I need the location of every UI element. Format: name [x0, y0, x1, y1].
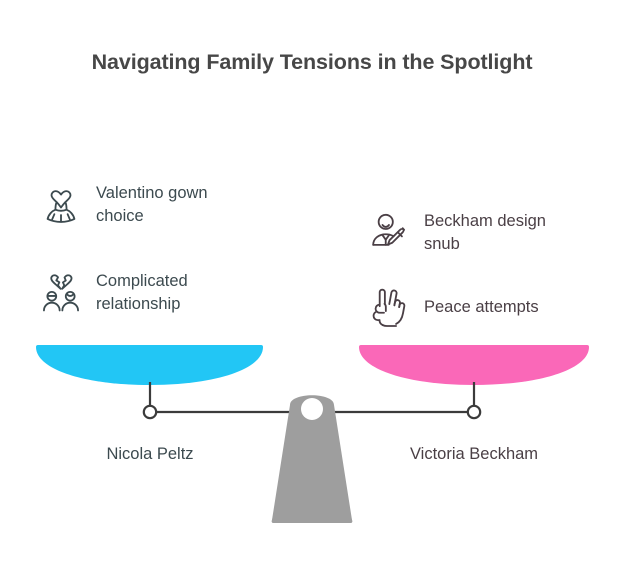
infographic-canvas: Navigating Family Tensions in the Spotli… [0, 0, 624, 576]
left-item-1: Valentino gown choice [38, 182, 256, 228]
right-item-2: Peace attempts [366, 284, 539, 330]
right-side-name: Victoria Beckham [374, 445, 574, 464]
left-item-2-label: Complicated relationship [96, 270, 256, 316]
broken-heart-couple-icon [38, 270, 84, 316]
peace-hand-icon [366, 284, 412, 330]
left-item-1-label: Valentino gown choice [96, 182, 256, 228]
left-side-name: Nicola Peltz [50, 445, 250, 464]
page-title: Navigating Family Tensions in the Spotli… [0, 50, 624, 75]
right-item-1: Beckham design snub [366, 210, 584, 256]
left-item-2: Complicated relationship [38, 270, 256, 316]
right-item-2-label: Peace attempts [424, 296, 539, 319]
balance-scale [0, 330, 624, 530]
dress-icon [38, 182, 84, 228]
right-item-1-label: Beckham design snub [424, 210, 584, 256]
designer-person-pencil-icon [366, 210, 412, 256]
